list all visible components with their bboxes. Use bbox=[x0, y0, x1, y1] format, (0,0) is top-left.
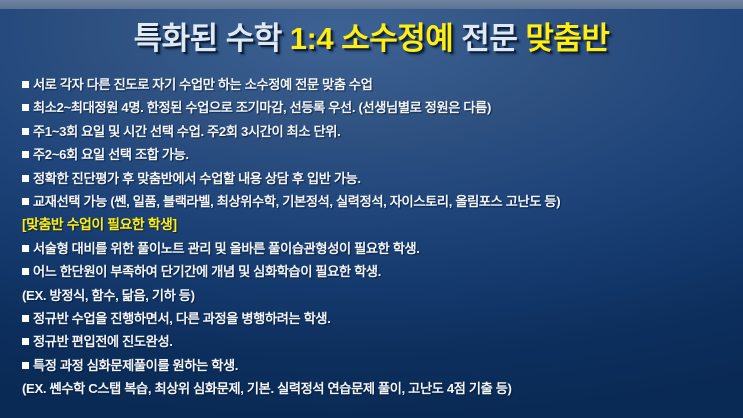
list-item: 교재선택 가능 (쎈, 일품, 블랙라벨, 최상위수학, 기본정석, 실력정석,… bbox=[22, 190, 734, 213]
section-heading: [맞춤반 수업이 필요한 학생] bbox=[22, 213, 734, 236]
list-item-label: 주1~3회 요일 및 시간 선택 수업. 주2회 3시간이 최소 단위. bbox=[33, 124, 340, 139]
list-item-label: 정확한 진단평가 후 맞춤반에서 수업할 내용 상담 후 입반 가능. bbox=[33, 171, 361, 186]
list-item-label: 최소2~최대정원 4명. 한정된 수업으로 조기마감, 선등록 우선. (선생님… bbox=[33, 100, 491, 115]
page-title: 특화된 수학1:4 소수정예전문맞춤반 bbox=[0, 19, 743, 59]
list-item-label: 주2~6회 요일 선택 조합 가능. bbox=[33, 147, 189, 162]
list-item: 정확한 진단평가 후 맞춤반에서 수업할 내용 상담 후 입반 가능. bbox=[22, 167, 734, 190]
list-item-label: 정규반 수업을 진행하면서, 다른 과정을 병행하려는 학생. bbox=[33, 311, 331, 326]
square-bullet-icon bbox=[22, 104, 29, 111]
list-item-label: 교재선택 가능 (쎈, 일품, 블랙라벨, 최상위수학, 기본정석, 실력정석,… bbox=[33, 194, 560, 209]
square-bullet-icon bbox=[22, 338, 29, 345]
square-bullet-icon bbox=[22, 268, 29, 275]
list-item-label: 특정 과정 심화문제풀이를 원하는 학생. bbox=[33, 358, 238, 373]
list-item: 정규반 수업을 진행하면서, 다른 과정을 병행하려는 학생. bbox=[22, 307, 734, 330]
list-item-label: (EX. 쎈수학 C스탭 복습, 최상위 심화문제, 기본. 실력정석 연습문제… bbox=[22, 381, 512, 396]
list-item: 어느 한단원이 부족하여 단기간에 개념 및 심화학습이 필요한 학생. bbox=[22, 260, 734, 283]
list-item: 정규반 편입전에 진도완성. bbox=[22, 330, 734, 353]
list-item: 최소2~최대정원 4명. 한정된 수업으로 조기마감, 선등록 우선. (선생님… bbox=[22, 96, 734, 119]
top-accent-band bbox=[0, 0, 743, 9]
square-bullet-icon bbox=[22, 151, 29, 158]
square-bullet-icon bbox=[22, 128, 29, 135]
square-bullet-icon bbox=[22, 315, 29, 322]
list-item: 특정 과정 심화문제풀이를 원하는 학생. bbox=[22, 354, 734, 377]
title-part-2: 1:4 소수정예 bbox=[290, 21, 454, 56]
slide-content: 특화된 수학1:4 소수정예전문맞춤반 서로 각자 다른 진도로 자기 수업만 … bbox=[0, 9, 743, 418]
title-part-3: 전문 bbox=[461, 21, 517, 56]
list-item: 주1~3회 요일 및 시간 선택 수업. 주2회 3시간이 최소 단위. bbox=[22, 120, 734, 143]
title-part-4: 맞춤반 bbox=[525, 21, 609, 56]
list-item: 서술형 대비를 위한 풀이노트 관리 및 올바른 풀이습관형성이 필요한 학생. bbox=[22, 237, 734, 260]
list-item: 주2~6회 요일 선택 조합 가능. bbox=[22, 143, 734, 166]
list-item-note: (EX. 방정식, 함수, 닮음, 기하 등) bbox=[22, 284, 734, 307]
list-item-note: (EX. 쎈수학 C스탭 복습, 최상위 심화문제, 기본. 실력정석 연습문제… bbox=[22, 377, 734, 400]
square-bullet-icon bbox=[22, 175, 29, 182]
feature-list: 서로 각자 다른 진도로 자기 수업만 하는 소수정예 전문 맞춤 수업 최소2… bbox=[22, 73, 734, 400]
list-item: 서로 각자 다른 진도로 자기 수업만 하는 소수정예 전문 맞춤 수업 bbox=[22, 73, 734, 96]
list-item-label: 어느 한단원이 부족하여 단기간에 개념 및 심화학습이 필요한 학생. bbox=[33, 264, 381, 279]
square-bullet-icon bbox=[22, 81, 29, 88]
square-bullet-icon bbox=[22, 245, 29, 252]
promo-slide: 특화된 수학1:4 소수정예전문맞춤반 서로 각자 다른 진도로 자기 수업만 … bbox=[0, 0, 743, 418]
list-item-label: 서로 각자 다른 진도로 자기 수업만 하는 소수정예 전문 맞춤 수업 bbox=[33, 77, 372, 92]
list-item-label: (EX. 방정식, 함수, 닮음, 기하 등) bbox=[22, 288, 195, 303]
list-item-label: 정규반 편입전에 진도완성. bbox=[33, 334, 173, 349]
list-item-label: 서술형 대비를 위한 풀이노트 관리 및 올바른 풀이습관형성이 필요한 학생. bbox=[33, 241, 420, 256]
square-bullet-icon bbox=[22, 198, 29, 205]
title-part-1: 특화된 수학 bbox=[134, 21, 282, 56]
square-bullet-icon bbox=[22, 362, 29, 369]
